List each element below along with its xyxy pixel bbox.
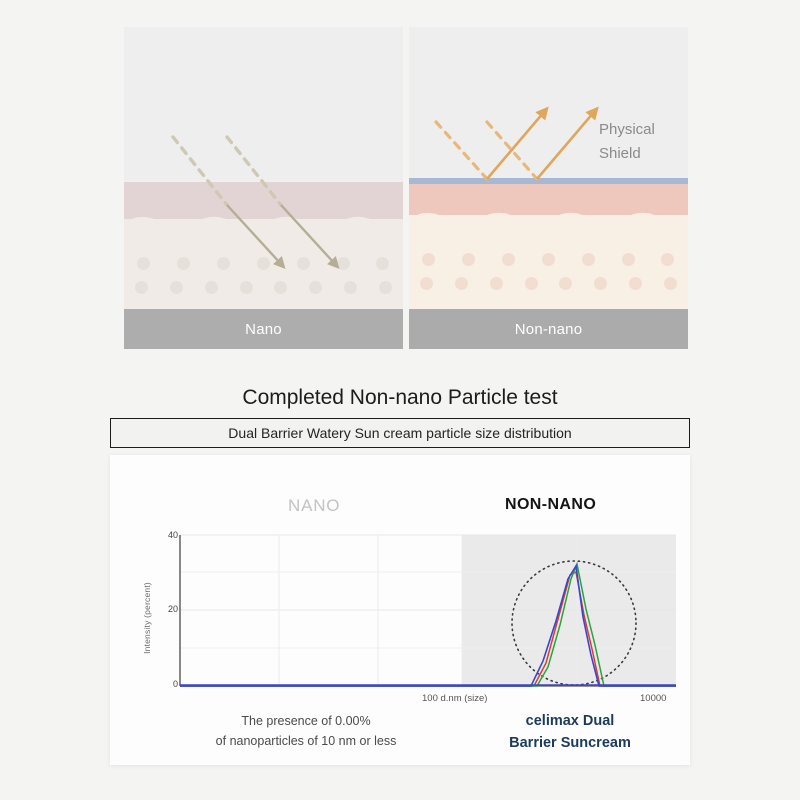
product-name-note: celimax Dual Barrier Suncream	[470, 710, 670, 754]
uv-ray-arrows-nano	[124, 27, 403, 349]
nano-absence-note-line1: The presence of 0.00%	[186, 711, 426, 731]
x-tick-10000: 10000	[640, 693, 666, 704]
particle-size-distribution-chart-card: NANO NON-NANO Intensity (percent) 40 20 …	[110, 455, 690, 765]
product-name-line2: Barrier Suncream	[470, 732, 670, 754]
page-title: Completed Non-nano Particle test	[0, 386, 800, 410]
uv-ray-arrows-non-nano	[409, 27, 688, 349]
illustration-panel-nano: Nano	[124, 27, 403, 349]
panel-caption-non-nano: Non-nano	[409, 309, 688, 349]
physical-shield-line2: Shield	[599, 142, 655, 166]
physical-shield-line1: Physical	[599, 118, 655, 142]
panel-caption-nano: Nano	[124, 309, 403, 349]
subtitle-banner: Dual Barrier Watery Sun cream particle s…	[110, 418, 690, 448]
physical-shield-annotation: Physical Shield	[599, 118, 655, 166]
illustration-panel-non-nano: Physical Shield Non-nano	[409, 27, 688, 349]
nano-absence-note-line2: of nanoparticles of 10 nm or less	[186, 731, 426, 751]
nano-absence-note: The presence of 0.00% of nanoparticles o…	[186, 711, 426, 751]
product-name-line1: celimax Dual	[470, 710, 670, 732]
x-tick-100: 100 d.nm (size)	[422, 693, 487, 704]
skin-penetration-illustration: Nano	[124, 27, 688, 349]
